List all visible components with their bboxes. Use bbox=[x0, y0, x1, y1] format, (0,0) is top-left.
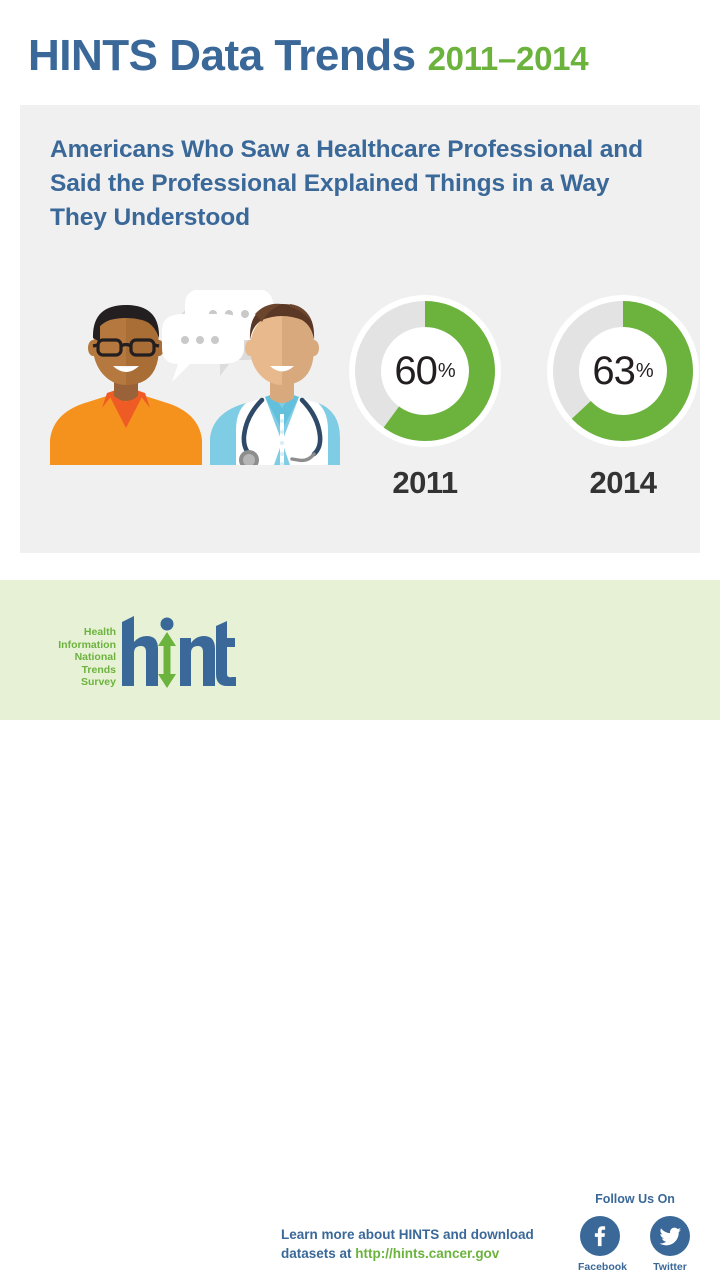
year-label-2014: 2014 bbox=[543, 465, 703, 501]
content-panel: Americans Who Saw a Healthcare Professio… bbox=[20, 105, 700, 553]
patient-doctor-illustration bbox=[50, 290, 340, 465]
percent-symbol-2014: % bbox=[636, 361, 654, 381]
panel-heading: Americans Who Saw a Healthcare Professio… bbox=[50, 133, 670, 235]
hints-logo: HealthInformationNationalTrendsSurvey bbox=[48, 612, 238, 690]
page-title-years: 2011–2014 bbox=[428, 40, 589, 78]
social-section: Follow Us On Facebook bbox=[560, 1192, 710, 1273]
donut-chart-2014: 63% bbox=[547, 295, 699, 447]
follow-us-heading: Follow Us On bbox=[560, 1192, 710, 1206]
twitter-icon[interactable] bbox=[650, 1216, 690, 1256]
donut-label-2011: 60% bbox=[349, 295, 501, 447]
tagline-line-4: Trends bbox=[82, 664, 116, 676]
hints-logo-tagline: HealthInformationNationalTrendsSurvey bbox=[48, 626, 116, 689]
donut-group-2011: 60% 2011 bbox=[345, 295, 505, 510]
donut-value-2011: 60 bbox=[394, 351, 437, 391]
tagline-line-5: Survey bbox=[81, 676, 116, 688]
hints-url-link[interactable]: http://hints.cancer.gov bbox=[355, 1246, 499, 1261]
social-row: Facebook Twitter bbox=[560, 1216, 710, 1273]
twitter-label: Twitter bbox=[648, 1261, 692, 1273]
social-item-twitter[interactable]: Twitter bbox=[648, 1216, 692, 1273]
header: HINTS Data Trends2011–2014 bbox=[28, 28, 692, 88]
tagline-line-3: National bbox=[75, 651, 116, 663]
facebook-icon[interactable] bbox=[580, 1216, 620, 1256]
hints-wordmark bbox=[120, 612, 240, 690]
page-title: HINTS Data Trends bbox=[28, 28, 416, 84]
tagline-line-1: Health bbox=[84, 626, 116, 638]
facebook-label: Facebook bbox=[578, 1261, 622, 1273]
donut-group-2014: 63% 2014 bbox=[543, 295, 703, 510]
donut-chart-2011: 60% bbox=[349, 295, 501, 447]
infographic-root: HINTS Data Trends2011–2014 Americans Who… bbox=[0, 0, 720, 720]
social-item-facebook[interactable]: Facebook bbox=[578, 1216, 622, 1273]
footer: HealthInformationNationalTrendsSurvey bbox=[0, 580, 720, 720]
year-label-2011: 2011 bbox=[345, 465, 505, 501]
donut-value-2014: 63 bbox=[592, 351, 635, 391]
learn-more-text: Learn more about HINTS and download data… bbox=[281, 1225, 541, 1263]
tagline-line-2: Information bbox=[58, 639, 116, 651]
percent-symbol-2011: % bbox=[438, 361, 456, 381]
donut-label-2014: 63% bbox=[547, 295, 699, 447]
